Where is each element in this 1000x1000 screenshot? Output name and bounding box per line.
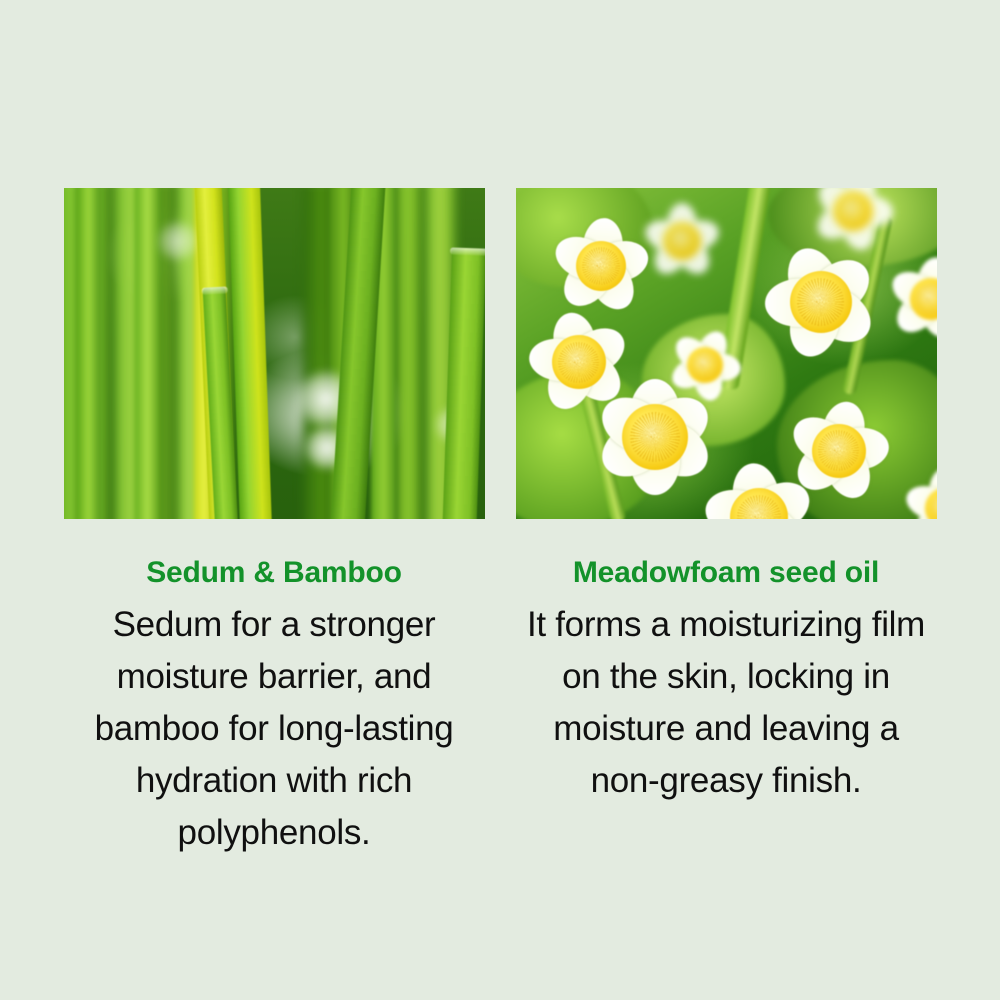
flower-center [663,222,701,260]
ingredient-columns: Sedum & Bamboo Sedum for a stronger mois… [0,0,1000,1000]
meadowfoam-flower [903,466,937,519]
flower-center [790,271,852,333]
ingredient-heading: Sedum & Bamboo [64,555,485,591]
meadowfoam-flower [549,214,653,318]
light-flare [156,221,200,261]
meadowfoam-flowers-photo [516,188,937,519]
ingredient-card-meadowfoam: Meadowfoam seed oil It forms a moisturiz… [516,0,937,807]
flower-center [687,347,723,383]
meadowfoam-flower [886,254,937,344]
ingredient-highlight-page: Sedum & Bamboo Sedum for a stronger mois… [0,0,1000,1000]
bamboo-forest-photo [64,188,485,519]
meadowfoam-flower [701,459,817,519]
flower-center [576,241,626,291]
bamboo-culm [76,188,101,519]
meadowfoam-flower [642,201,722,281]
bamboo-culm [396,188,421,519]
meadowfoam-flower [667,327,743,403]
ingredient-heading: Meadowfoam seed oil [516,555,937,591]
caption-sedum-bamboo: Sedum & Bamboo Sedum for a stronger mois… [64,519,485,859]
flower-center [622,404,688,470]
ingredient-card-sedum-bamboo: Sedum & Bamboo Sedum for a stronger mois… [64,0,485,859]
flower-center [812,424,866,478]
meadowfoam-flower [760,241,882,363]
flower-center [833,191,873,231]
caption-meadowfoam: Meadowfoam seed oil It forms a moisturiz… [516,519,937,807]
ingredient-description: Sedum for a stronger moisture barrier, a… [64,599,485,859]
ingredient-description: It forms a moisturizing film on the skin… [516,599,937,807]
